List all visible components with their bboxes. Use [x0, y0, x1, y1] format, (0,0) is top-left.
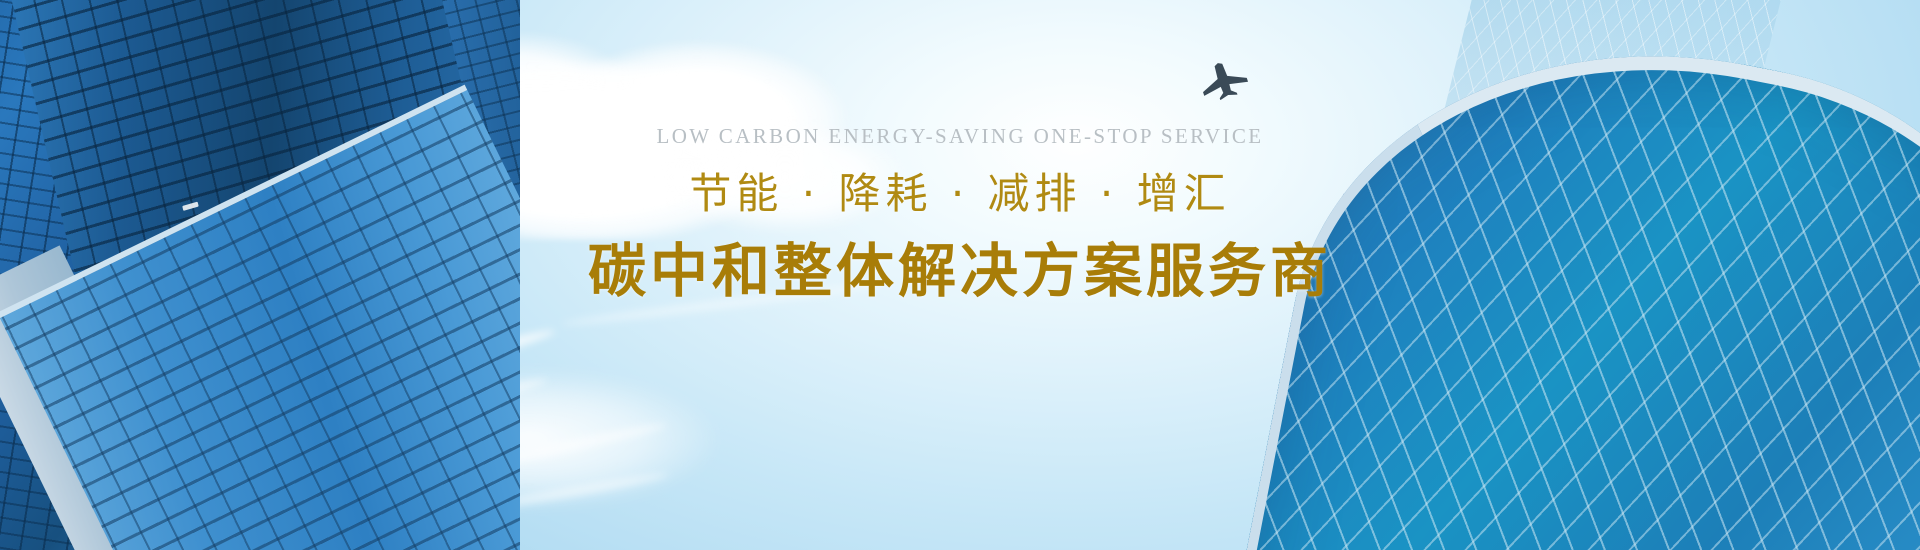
banner-eyebrow: LOW CARBON ENERGY-SAVING ONE-STOP SERVIC…	[657, 126, 1264, 147]
hero-text-block: LOW CARBON ENERGY-SAVING ONE-STOP SERVIC…	[0, 0, 1920, 550]
hero-banner: LOW CARBON ENERGY-SAVING ONE-STOP SERVIC…	[0, 0, 1920, 550]
banner-headline: 碳中和整体解决方案服务商	[588, 241, 1332, 302]
banner-subtitle: 节能 · 降耗 · 减排 · 增汇	[689, 173, 1230, 215]
